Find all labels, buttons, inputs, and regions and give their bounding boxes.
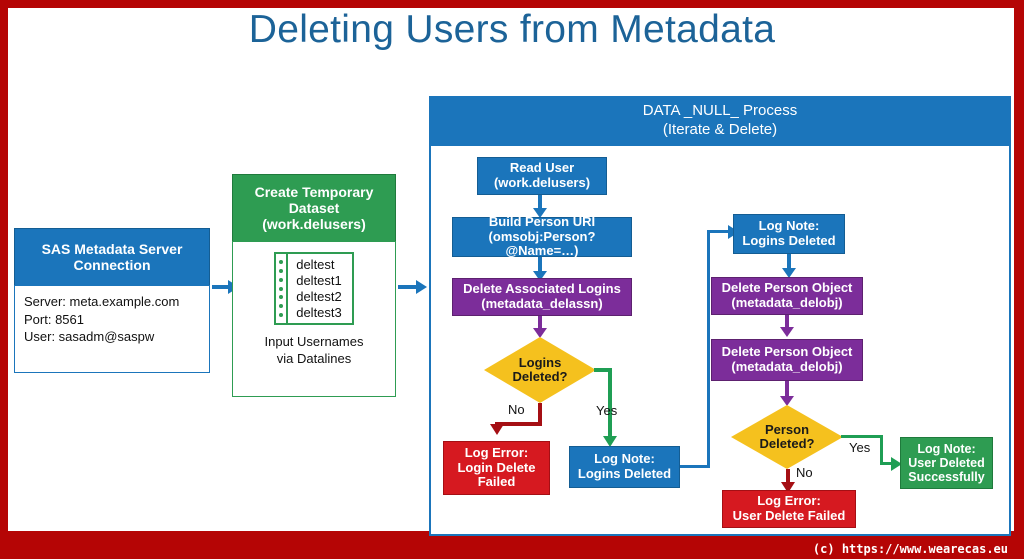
edge-person-yes-h1 — [841, 435, 883, 438]
edge-feedback-h1 — [680, 465, 710, 468]
node-delete-associated-logins[interactable]: Delete Associated Logins (metadata_delas… — [452, 278, 632, 316]
page-title: Deleting Users from Metadata — [0, 8, 1024, 52]
data-null-panel-header: DATA _NULL_ Process (Iterate & Delete) — [429, 96, 1011, 146]
edge-delperson1-to-delperson2-arrowhead — [780, 327, 794, 337]
dataset-row: deltest — [296, 257, 342, 273]
edge-delperson2-to-decision-arrowhead — [780, 396, 794, 406]
watermark-text: (c) https://www.wearecas.eu — [813, 542, 1008, 556]
edge-label-logins-yes: Yes — [596, 403, 617, 418]
node-log-note-logins-deleted-right[interactable]: Log Note: Logins Deleted — [733, 214, 845, 254]
node-build-person-uri[interactable]: Build Person URI (omsobj:Person?@Name=…) — [452, 217, 632, 257]
frame-border-right — [1014, 0, 1024, 559]
node-read-user[interactable]: Read User (work.delusers) — [477, 157, 607, 195]
dataset-values-box: deltest deltest1 deltest2 deltest3 — [274, 252, 354, 325]
node-log-note-logins-deleted-mid[interactable]: Log Note: Logins Deleted — [569, 446, 680, 488]
dataset-row: deltest3 — [296, 305, 342, 321]
node-delete-person-object-2[interactable]: Delete Person Object (metadata_delobj) — [711, 339, 863, 381]
diagram-canvas: (c) https://www.wearecas.eu Deleting Use… — [0, 0, 1024, 559]
edge-logins-no-arrowhead — [490, 424, 504, 435]
node-log-error-login-delete-failed[interactable]: Log Error: Login Delete Failed — [443, 441, 550, 495]
sas-connection-header: SAS Metadata Server Connection — [14, 228, 210, 285]
temp-dataset-card: Create Temporary Dataset (work.delusers)… — [232, 174, 396, 397]
node-log-note-user-deleted-successfully[interactable]: Log Note: User Deleted Successfully — [900, 437, 993, 489]
node-delete-person-object-1[interactable]: Delete Person Object (metadata_delobj) — [711, 277, 863, 315]
frame-border-top — [0, 0, 1024, 8]
edge-feedback-vertical — [707, 230, 710, 467]
edge-person-yes-vertical — [880, 435, 883, 465]
edge-delete-logins-to-decision-arrowhead — [533, 328, 547, 338]
dataset-row: deltest2 — [296, 289, 342, 305]
sas-connection-card: SAS Metadata Server Connection Server: m… — [14, 228, 210, 373]
edge-dataset-to-panel — [398, 285, 418, 289]
edge-dataset-to-panel-arrowhead — [416, 280, 427, 294]
edge-label-person-yes: Yes — [849, 440, 870, 455]
node-log-error-user-delete-failed[interactable]: Log Error: User Delete Failed — [722, 490, 856, 528]
dataset-username-rows: deltest deltest1 deltest2 deltest3 — [288, 254, 352, 323]
dataset-bullet-column — [276, 254, 288, 323]
edge-label-person-no: No — [796, 465, 813, 480]
temp-dataset-header: Create Temporary Dataset (work.delusers) — [232, 174, 396, 241]
sas-connection-details: Server: meta.example.com Port: 8561 User… — [14, 285, 210, 373]
temp-dataset-body: deltest deltest1 deltest2 deltest3 Input… — [232, 241, 396, 397]
dataset-row: deltest1 — [296, 273, 342, 289]
frame-border-left — [0, 0, 8, 559]
dataset-caption: Input Usernames via Datalines — [261, 331, 368, 375]
edge-label-logins-no: No — [508, 402, 525, 417]
